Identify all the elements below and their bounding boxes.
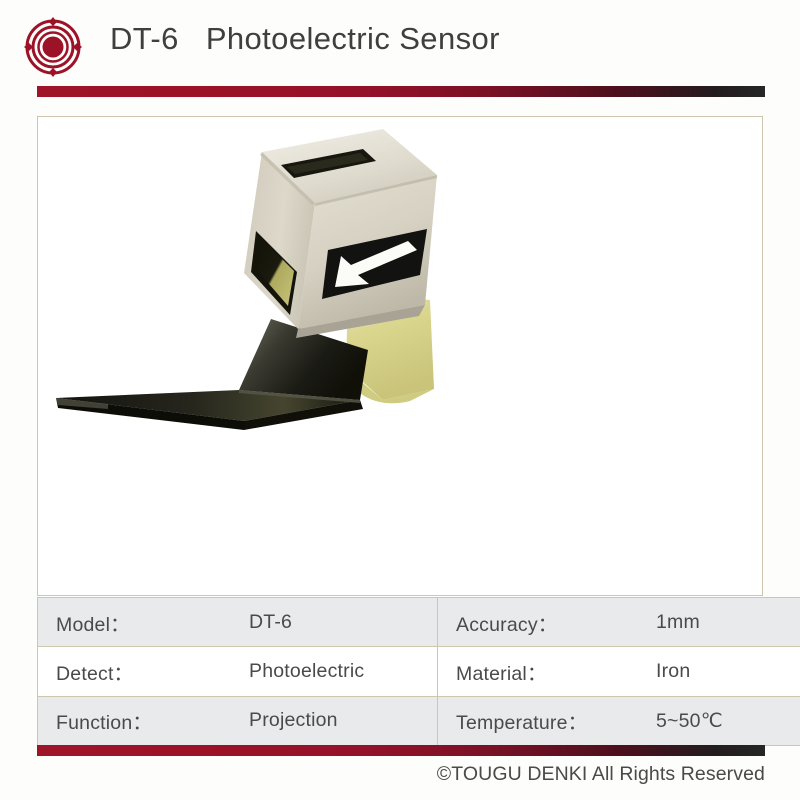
spec-label-accuracy: Accuracy： [438,598,639,647]
spec-value-model: DT-6 [231,598,438,647]
spec-label-detect: Detect： [38,647,232,696]
spec-value-function: Projection [231,696,438,745]
company-logo [22,16,84,78]
spec-label-function: Function： [38,696,232,745]
spec-label-material: Material： [438,647,639,696]
spec-value-detect: Photoelectric [231,647,438,696]
page-header: DT-6 Photoelectric Sensor [0,0,800,92]
spec-value-accuracy: 1mm [638,598,800,647]
product-image-frame [37,116,763,596]
spec-label-model: Model： [38,598,232,647]
concentric-target-logo-icon [22,16,84,78]
spec-value-material: Iron [638,647,800,696]
page-title: DT-6 Photoelectric Sensor [110,21,500,57]
dt-6-sensor-illustration [38,117,763,596]
table-row: Detect： Photoelectric Material： Iron [38,647,800,696]
footer-accent-bar [37,745,765,756]
table-row: Model： DT-6 Accuracy： 1mm [38,598,800,647]
header-accent-bar [37,86,765,97]
spec-label-temperature: Temperature： [438,696,639,745]
spec-value-temperature: 5~50℃ [638,696,800,745]
product-image [38,117,763,596]
specification-table: Model： DT-6 Accuracy： 1mm Detect： Photoe… [37,597,800,746]
copyright-notice: ©TOUGU DENKI All Rights Reserved [437,763,765,786]
table-row: Function： Projection Temperature： 5~50℃ [38,696,800,745]
